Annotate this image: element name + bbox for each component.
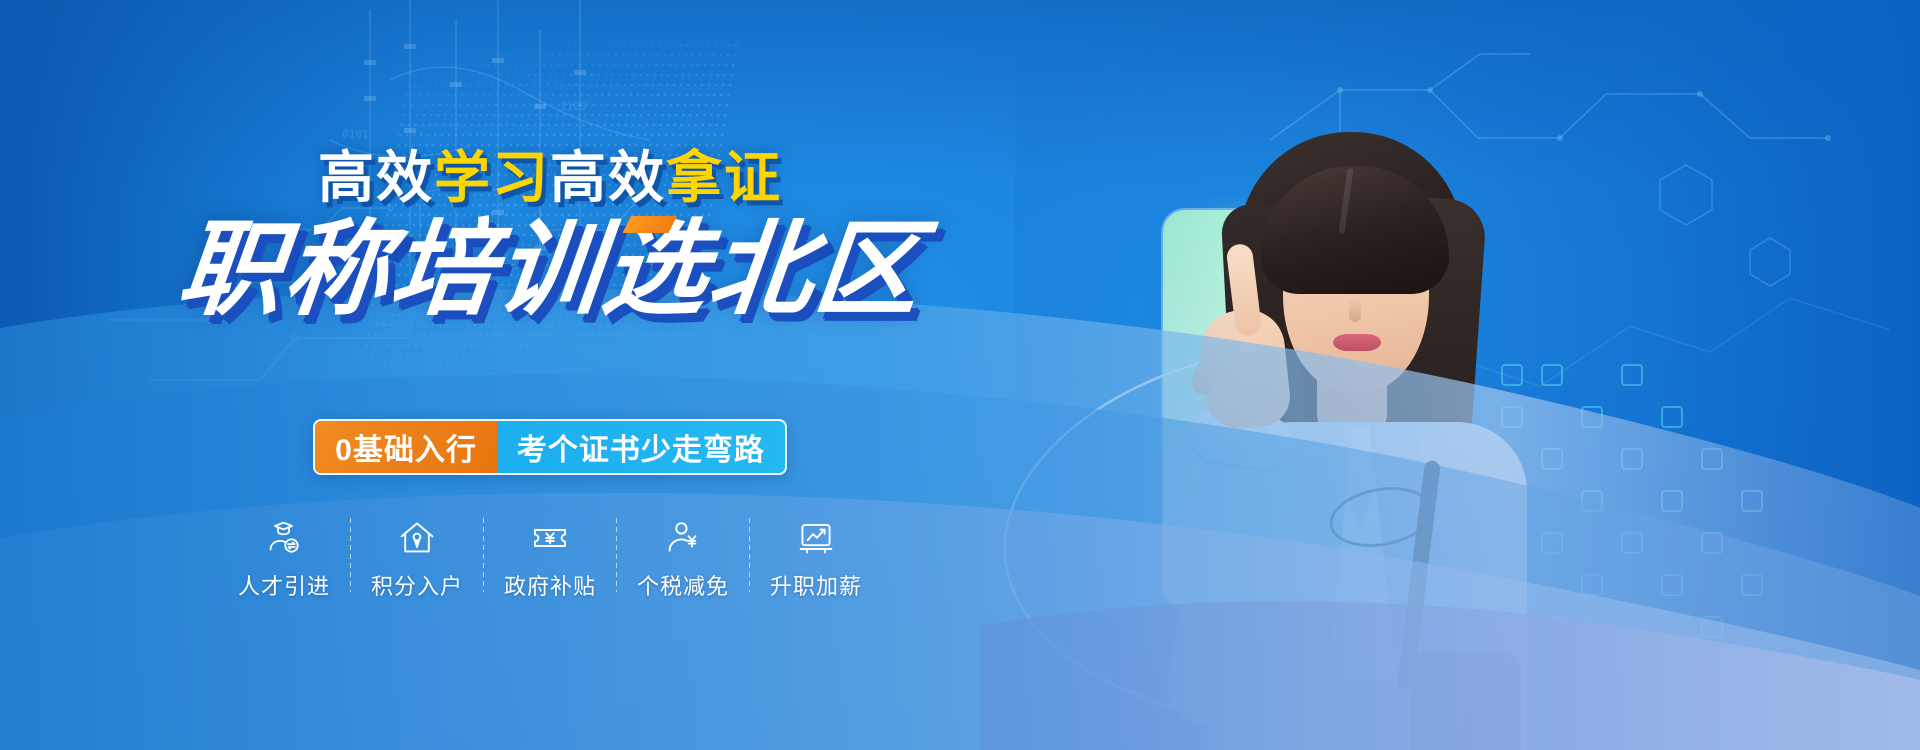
feature-item-promotion[interactable]: 升职加薪: [750, 516, 882, 601]
woman-figure: [1111, 112, 1581, 750]
subtitle-seg-2: 学习: [434, 146, 550, 209]
growth-chart-icon: [796, 516, 836, 560]
feature-label: 个税减免: [637, 569, 729, 601]
feature-list: 人才引进 积分入户: [0, 516, 1100, 601]
feature-label: 政府补贴: [504, 569, 596, 601]
person-yuan-icon: [663, 516, 703, 560]
subtitle-seg-3: 高效: [550, 146, 666, 209]
headline-char-2: 称: [279, 218, 396, 322]
feature-divider: [350, 518, 351, 592]
subtitle-seg-4: 拿证: [666, 146, 782, 209]
headline-char-4: 训: [492, 218, 609, 322]
feature-divider: [616, 518, 617, 592]
subtitle: 高效学习高效拿证: [0, 150, 1100, 206]
right-edge-shade: [1360, 0, 1920, 750]
circuit-pattern-right: [1230, 30, 1890, 550]
feature-item-subsidy[interactable]: 政府补贴: [484, 516, 616, 601]
headline-char-3: 培: [386, 218, 503, 322]
square-matrix-pattern: [1494, 355, 1824, 655]
feature-label: 人才引进: [238, 569, 330, 601]
card-glow: [1155, 200, 1421, 620]
subtitle-seg-1: 高效: [318, 146, 434, 209]
tag-right-label: 考个证书少走弯路: [497, 421, 785, 473]
voucher-yuan-icon: [530, 516, 570, 560]
tag-row: 0基础入行 考个证书少走弯路: [0, 419, 1100, 475]
headline-char-7: 区: [810, 218, 927, 322]
promo-banner: 2 39 0101 1100: [0, 0, 1920, 750]
content-column: 高效学习高效拿证 职称培训选北区 0基础入行 考个证书少走弯路: [0, 0, 1100, 750]
feature-item-tax[interactable]: 个税减免: [617, 516, 749, 601]
hero-photo: [1015, 50, 1675, 750]
promo-tag[interactable]: 0基础入行 考个证书少走弯路: [313, 419, 787, 475]
headline-char-1: 职: [173, 218, 290, 322]
feature-label: 升职加薪: [770, 569, 862, 601]
feature-item-talent[interactable]: 人才引进: [218, 516, 350, 601]
feature-divider: [749, 518, 750, 592]
headline: 职称培训选北区: [0, 218, 1105, 322]
graduate-person-icon: [264, 516, 304, 560]
headline-char-5: 选: [598, 218, 715, 322]
feature-label: 积分入户: [371, 569, 463, 601]
feature-divider: [483, 518, 484, 592]
tag-left-label: 0基础入行: [315, 421, 497, 473]
headline-char-6: 北: [704, 218, 821, 322]
house-pin-icon: [397, 516, 437, 560]
mint-card: [1163, 210, 1409, 610]
feature-item-residency[interactable]: 积分入户: [351, 516, 483, 601]
